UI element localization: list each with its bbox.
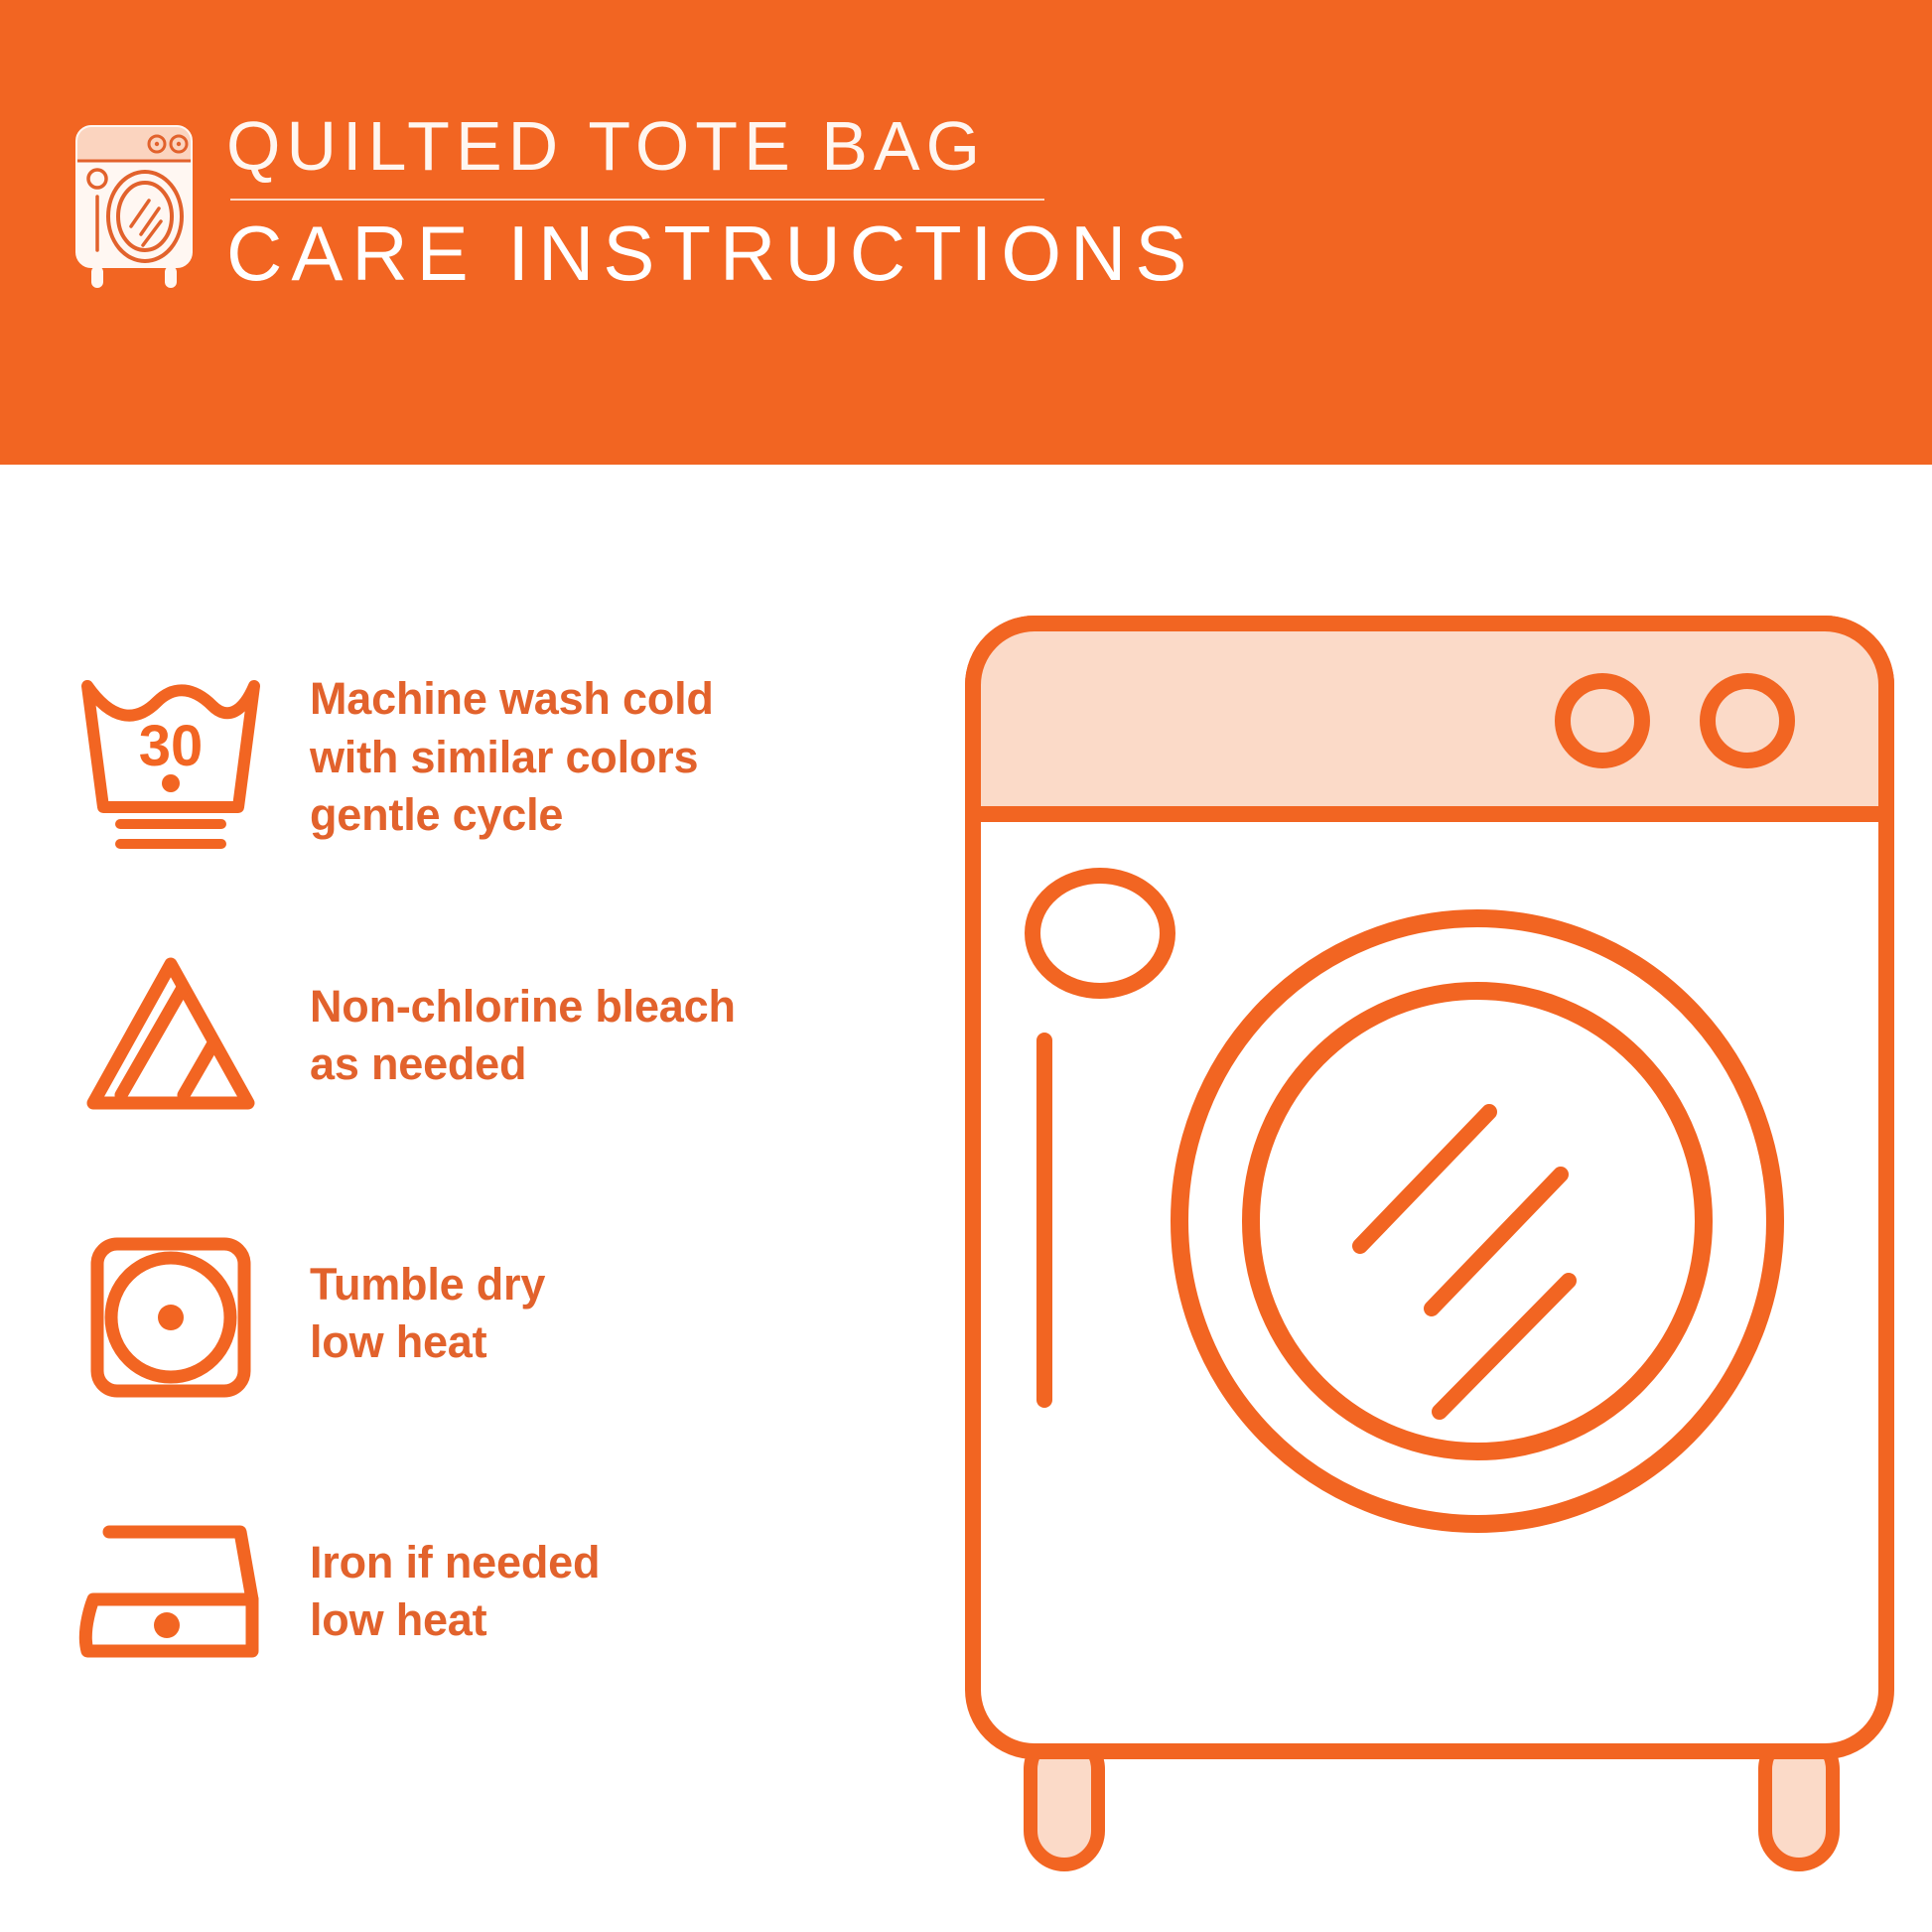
care-row-tumble-dry: Tumble dry low heat (71, 1214, 856, 1413)
care-line: Iron if needed (310, 1534, 856, 1592)
care-label-machine-wash: Machine wash cold with similar colors ge… (310, 670, 856, 845)
tumble-dry-low-heat-icon (71, 1214, 270, 1413)
care-row-machine-wash: 30 Machine wash cold with similar colors… (71, 658, 856, 857)
title-divider (230, 199, 1044, 201)
care-line: gentle cycle (310, 786, 856, 845)
care-line: with similar colors (310, 729, 856, 787)
care-line: Tumble dry (310, 1256, 856, 1314)
care-label-iron: Iron if needed low heat (310, 1534, 856, 1650)
washing-machine-illustration (953, 596, 1906, 1906)
top-control-panel (973, 623, 1886, 814)
care-line: Machine wash cold (310, 670, 856, 729)
header-titles: QUILTED TOTE BAG CARE INSTRUCTIONS (226, 111, 1311, 292)
non-chlorine-bleach-triangle-icon (71, 936, 270, 1135)
header-band: QUILTED TOTE BAG CARE INSTRUCTIONS (0, 0, 1932, 465)
care-line: low heat (310, 1591, 856, 1650)
wash-temp-label: 30 (139, 714, 204, 778)
header-content: QUILTED TOTE BAG CARE INSTRUCTIONS (69, 111, 1311, 340)
washing-machine-icon (69, 117, 199, 296)
care-instructions-poster: QUILTED TOTE BAG CARE INSTRUCTIONS 30 (0, 0, 1932, 1932)
care-instruction-list: 30 Machine wash cold with similar colors… (0, 465, 894, 1932)
page-title: QUILTED TOTE BAG (226, 111, 1311, 193)
page-subtitle: CARE INSTRUCTIONS (226, 214, 1311, 292)
care-line: Non-chlorine bleach (310, 978, 856, 1036)
care-label-bleach: Non-chlorine bleach as needed (310, 978, 856, 1094)
wash-tub-30-gentle-icon: 30 (71, 658, 270, 857)
iron-low-heat-icon (71, 1492, 270, 1691)
care-label-tumble-dry: Tumble dry low heat (310, 1256, 856, 1372)
care-row-bleach: Non-chlorine bleach as needed (71, 936, 856, 1135)
care-row-iron: Iron if needed low heat (71, 1492, 856, 1691)
care-line: low heat (310, 1313, 856, 1372)
care-line: as needed (310, 1035, 856, 1094)
